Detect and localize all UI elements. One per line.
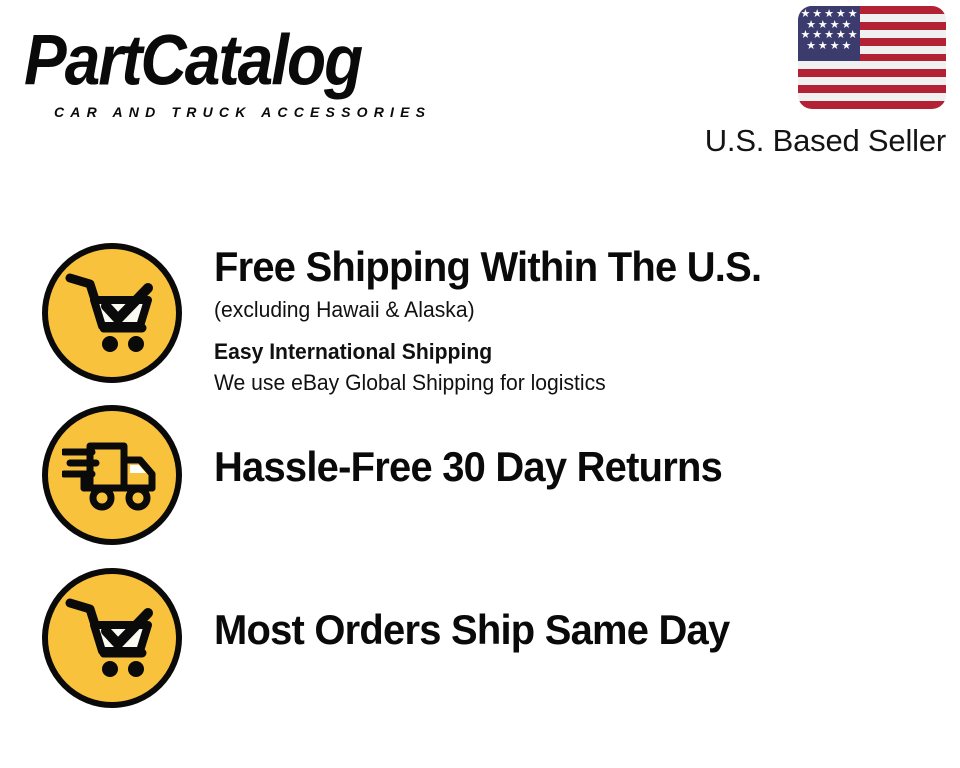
feature-subline: We use eBay Global Shipping for logistic… bbox=[214, 368, 767, 398]
feature-text: Hassle-Free 30 Day Returns bbox=[214, 405, 749, 491]
feature-title: Hassle-Free 30 Day Returns bbox=[214, 443, 722, 491]
feature-row: Free Shipping Within The U.S. (excluding… bbox=[42, 243, 942, 398]
us-flag-icon: ★ ★ ★ ★ ★ ★ ★ ★ ★ ★ ★ ★ ★ ★ ★ ★ ★ ★ bbox=[798, 6, 946, 109]
seller-badge: ★ ★ ★ ★ ★ ★ ★ ★ ★ ★ ★ ★ ★ ★ ★ ★ ★ ★ U.S.… bbox=[686, 6, 946, 159]
feature-subline: Easy International Shipping bbox=[214, 337, 767, 367]
flag-canton: ★ ★ ★ ★ ★ ★ ★ ★ ★ ★ ★ ★ ★ ★ ★ ★ ★ ★ bbox=[798, 6, 860, 61]
feature-title: Most Orders Ship Same Day bbox=[214, 606, 729, 654]
shopping-cart-check-icon bbox=[42, 568, 182, 708]
brand-wordmark: PartCatalog bbox=[24, 24, 474, 96]
feature-subline: (excluding Hawaii & Alaska) bbox=[214, 295, 767, 325]
feature-text: Most Orders Ship Same Day bbox=[214, 568, 757, 654]
shopping-cart-check-icon bbox=[42, 243, 182, 383]
brand-logo: PartCatalog CAR AND TRUCK ACCESSORIES bbox=[24, 24, 474, 112]
seller-label: U.S. Based Seller bbox=[686, 123, 946, 159]
delivery-truck-icon bbox=[42, 405, 182, 545]
feature-row: Most Orders Ship Same Day bbox=[42, 568, 942, 708]
brand-tagline: CAR AND TRUCK ACCESSORIES bbox=[54, 104, 474, 120]
feature-text: Free Shipping Within The U.S. (excluding… bbox=[214, 243, 790, 398]
feature-row: Hassle-Free 30 Day Returns bbox=[42, 405, 942, 545]
feature-title: Free Shipping Within The U.S. bbox=[214, 243, 761, 291]
